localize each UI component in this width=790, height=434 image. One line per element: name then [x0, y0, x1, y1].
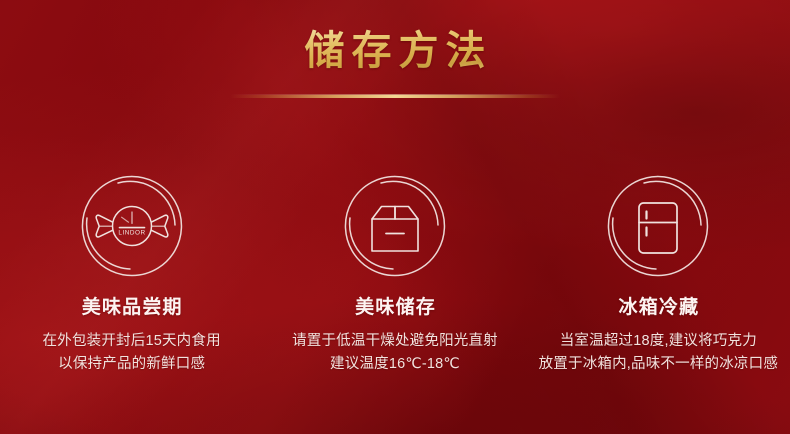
column-heading: 美味储存 [354, 297, 436, 320]
storage-method-banner: 储存方法 [0, 0, 790, 434]
gold-divider [230, 95, 560, 98]
column-heading: 冰箱冷藏 [617, 297, 699, 320]
column-description: 在外包装开封后15天内食用 以保持产品的新鲜口感 [43, 330, 221, 377]
column-line: 建议温度16℃-18℃ [292, 353, 498, 376]
column-line: 请置于低温干燥处避免阳光直射 [292, 330, 498, 353]
storage-tip-column-1: LINDOR 美味品尝期 在外包装开封后15天内食用 以保持产品的新鲜口感 [0, 172, 263, 377]
page-title-wrap: 储存方法 [0, 28, 790, 74]
column-heading: 美味品尝期 [81, 297, 183, 320]
candy-icon: LINDOR [78, 172, 186, 280]
box-icon [341, 172, 449, 280]
column-description: 请置于低温干燥处避免阳光直射 建议温度16℃-18℃ [292, 330, 498, 377]
refrigerator-icon [604, 172, 712, 280]
column-line: 以保持产品的新鲜口感 [43, 353, 221, 376]
storage-tips-columns: LINDOR 美味品尝期 在外包装开封后15天内食用 以保持产品的新鲜口感 [0, 172, 790, 377]
column-line: 在外包装开封后15天内食用 [43, 330, 221, 353]
candy-brand-label: LINDOR [118, 230, 145, 237]
column-line: 放置于冰箱内,品味不一样的冰凉口感 [539, 353, 778, 376]
column-line: 当室温超过18度,建议将巧克力 [539, 330, 778, 353]
storage-tip-column-3: 冰箱冷藏 当室温超过18度,建议将巧克力 放置于冰箱内,品味不一样的冰凉口感 [527, 172, 790, 377]
column-description: 当室温超过18度,建议将巧克力 放置于冰箱内,品味不一样的冰凉口感 [539, 330, 778, 377]
page-title: 储存方法 [298, 28, 493, 74]
storage-tip-column-2: 美味储存 请置于低温干燥处避免阳光直射 建议温度16℃-18℃ [263, 172, 526, 377]
